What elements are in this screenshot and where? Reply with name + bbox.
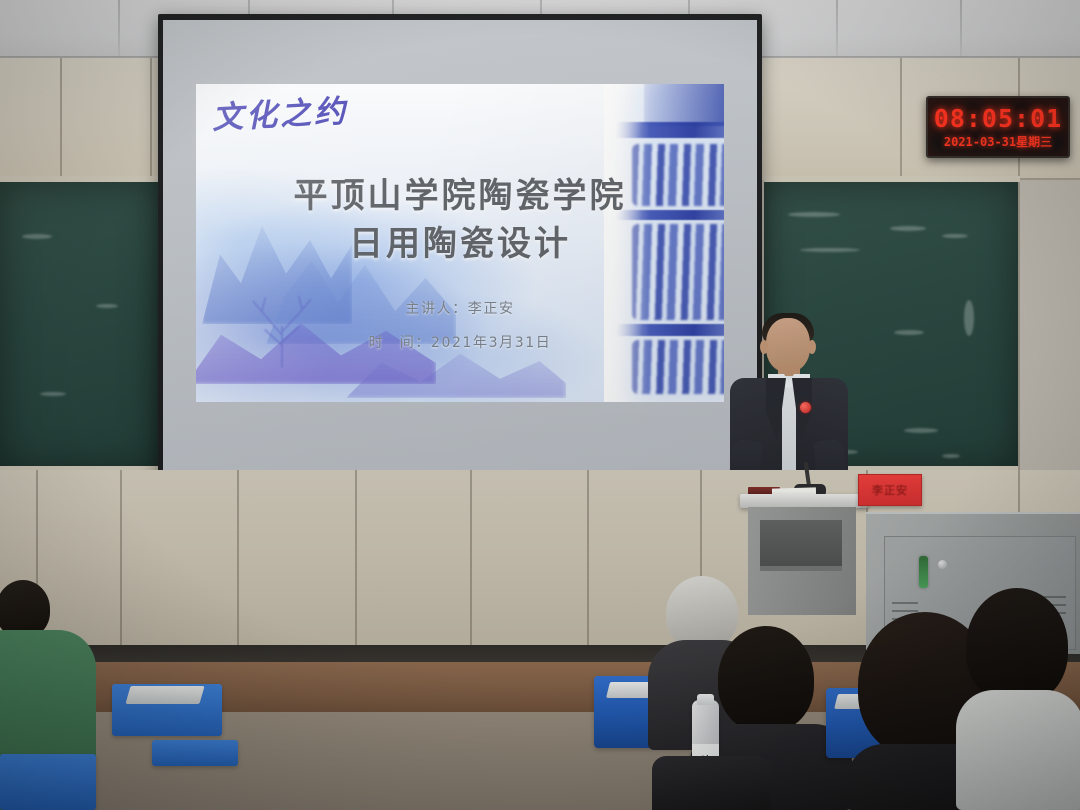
wall-seam xyxy=(60,58,62,180)
speaker-boutonniere xyxy=(800,402,811,413)
panel-seam xyxy=(470,470,472,645)
wall-seam xyxy=(900,58,902,180)
blackboard-left xyxy=(0,182,158,470)
slide-date-line: 时 间：2021年3月31日 xyxy=(196,326,724,360)
slide-brand-logo: 文化之约 xyxy=(211,96,348,134)
panel-seam xyxy=(355,470,357,645)
podium-top xyxy=(740,494,868,508)
led-clock-date: 2021-03-31星期三 xyxy=(944,136,1052,148)
cabinet-handle[interactable] xyxy=(919,556,928,588)
slide-title: 平顶山学院陶瓷学院 日用陶瓷设计 xyxy=(196,172,724,269)
slide-title-line2: 日用陶瓷设计 xyxy=(196,220,724,268)
slide-meta: 主讲人：李正安 时 间：2021年3月31日 xyxy=(196,292,724,361)
led-clock-time: 08:05:01 xyxy=(934,106,1062,131)
lecture-desk xyxy=(152,740,238,766)
audience-head xyxy=(718,626,814,732)
panel-seam xyxy=(587,470,589,645)
audience-head xyxy=(666,576,738,650)
lecture-hall-scene: 文化之约 平顶山学院陶瓷学院 日用陶瓷设计 主讲人：李正安 时 间：2021年3… xyxy=(0,0,1080,810)
slide-speaker-line: 主讲人：李正安 xyxy=(196,292,724,326)
ceiling-seam xyxy=(960,0,962,60)
slide-title-line1: 平顶山学院陶瓷学院 xyxy=(294,176,627,216)
panel-seam xyxy=(120,470,122,645)
wall-seam xyxy=(1018,182,1020,472)
backpack xyxy=(652,756,770,810)
speaker-ear xyxy=(760,340,768,354)
podium-recess xyxy=(760,520,842,568)
lecture-desk xyxy=(0,754,96,810)
podium-shelf xyxy=(760,566,842,571)
lecture-desk-surface xyxy=(125,686,204,704)
speaker-name-card-text: 李正安 xyxy=(872,482,908,498)
speaker-ear xyxy=(808,340,816,354)
water-bottle-cap xyxy=(697,694,714,705)
speaker-name-card: 李正安 xyxy=(858,474,922,506)
panel-seam xyxy=(237,470,239,645)
wall-seam xyxy=(150,58,152,180)
audience-person xyxy=(956,690,1080,810)
projected-slide: 文化之约 平顶山学院陶瓷学院 日用陶瓷设计 主讲人：李正安 时 间：2021年3… xyxy=(196,84,724,402)
ceiling-seam xyxy=(836,0,838,60)
cabinet-lock-icon[interactable] xyxy=(938,560,947,569)
led-clock: 08:05:01 2021-03-31星期三 xyxy=(926,96,1070,158)
audience-head xyxy=(966,588,1068,704)
ceiling-seam xyxy=(118,0,120,60)
speaker-head xyxy=(766,318,810,372)
